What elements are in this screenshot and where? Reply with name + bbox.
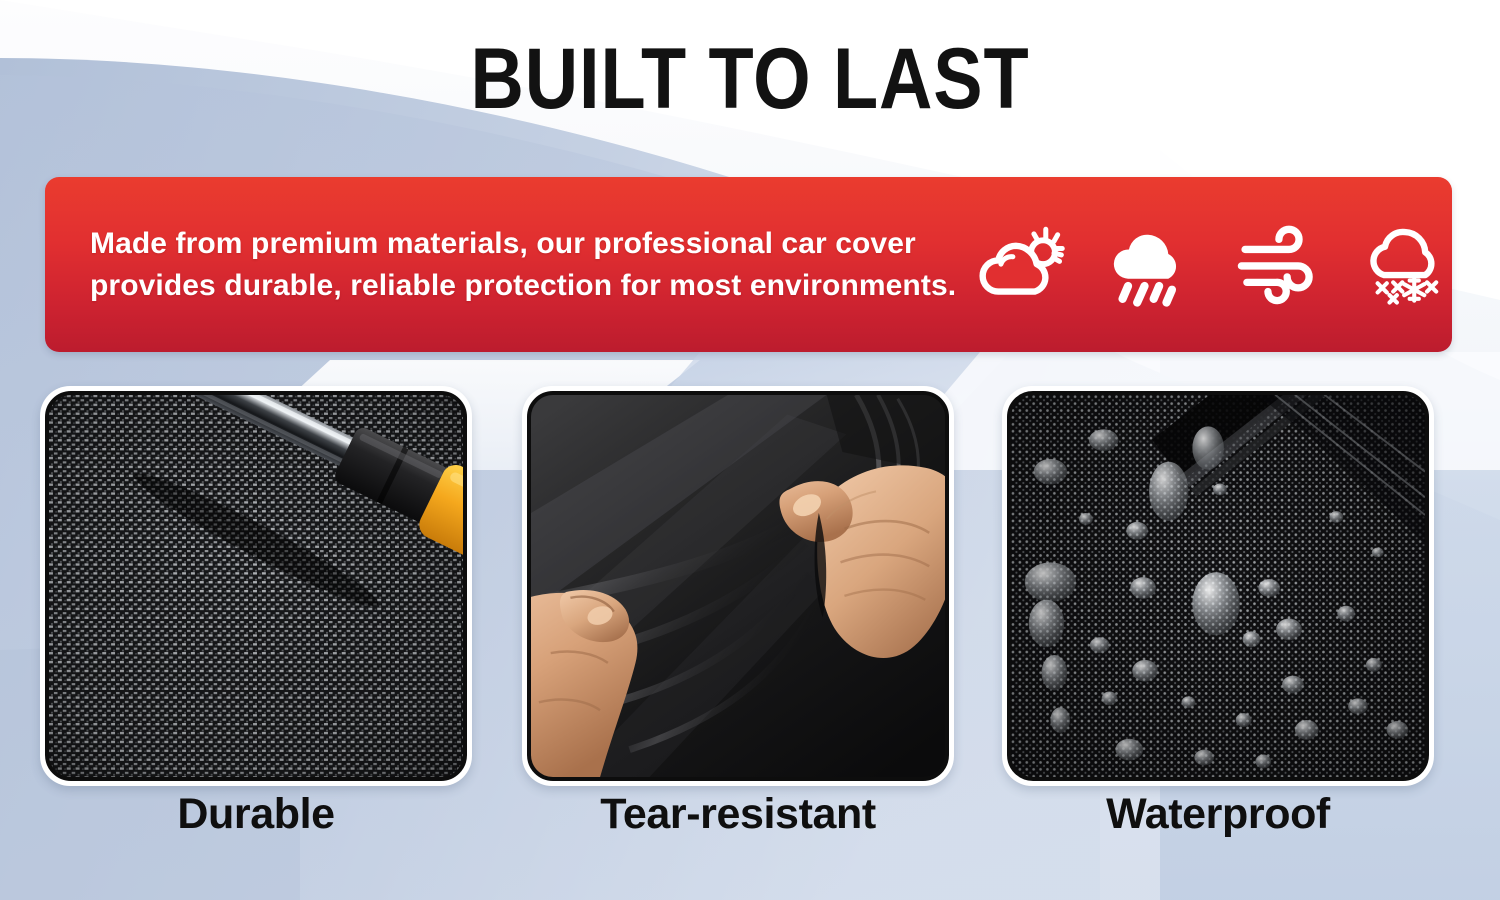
feature-card-waterproof: Waterproof bbox=[1002, 386, 1434, 786]
banner-description: Made from premium materials, our profess… bbox=[45, 223, 970, 306]
page-title: BUILT TO LAST bbox=[105, 34, 1395, 124]
screwdriver-on-woven-fabric-photo bbox=[45, 391, 467, 781]
feature-caption: Waterproof bbox=[1002, 790, 1434, 839]
sun-behind-cloud-icon bbox=[976, 222, 1068, 308]
feature-caption: Durable bbox=[40, 790, 472, 839]
feature-caption: Tear-resistant bbox=[522, 790, 954, 839]
hands-stretching-fabric-photo bbox=[527, 391, 949, 781]
rain-cloud-icon bbox=[1104, 222, 1196, 308]
water-beads-graphic bbox=[1011, 395, 1425, 777]
feature-card-tear-resistant: Tear-resistant bbox=[522, 386, 954, 786]
promo-banner: Made from premium materials, our profess… bbox=[45, 177, 1452, 352]
weather-icon-group bbox=[976, 222, 1452, 308]
photo-frame bbox=[522, 386, 954, 786]
stretched-cover-graphic bbox=[531, 395, 945, 777]
water-beads-on-fabric-photo bbox=[1007, 391, 1429, 781]
photo-frame bbox=[40, 386, 472, 786]
photo-frame bbox=[1002, 386, 1434, 786]
fabric-weave-graphic bbox=[49, 395, 463, 777]
wind-icon bbox=[1232, 222, 1324, 308]
snow-cloud-icon bbox=[1360, 222, 1452, 308]
feature-card-durable: Durable bbox=[40, 386, 472, 786]
